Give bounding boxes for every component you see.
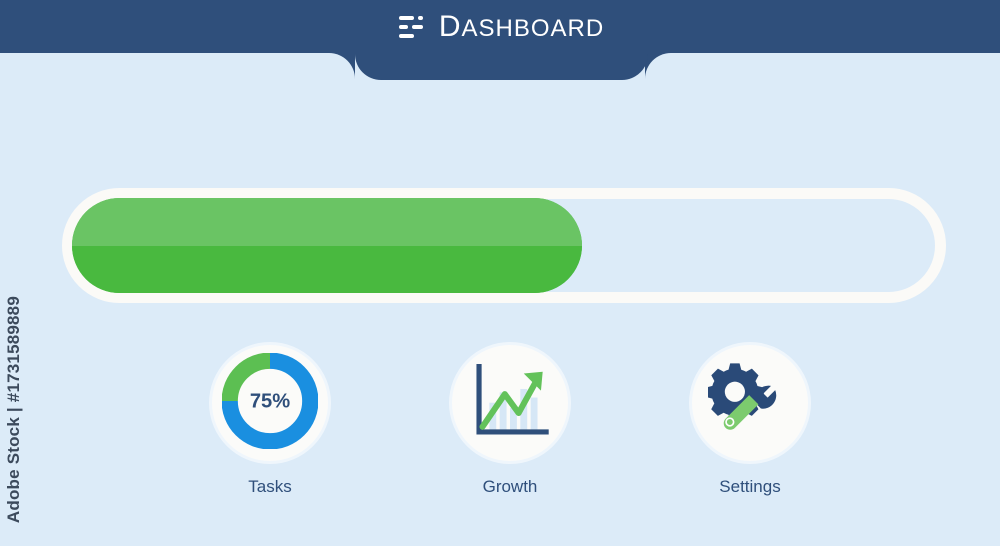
feature-icon-circle-tasks: 75% (212, 345, 328, 461)
bar-chart-list-icon (399, 16, 423, 38)
progress-fill-shadow (72, 246, 582, 294)
gear-wrench-icon (708, 359, 792, 448)
header-tab-notch-right (645, 53, 671, 80)
page-title-initial: D (439, 10, 462, 43)
line-chart-up-arrow-icon (467, 358, 553, 449)
feature-item-tasks[interactable]: 75% Tasks (180, 345, 360, 497)
header: DASHBOARD (355, 0, 648, 53)
header-tab (355, 53, 648, 80)
feature-item-growth[interactable]: Growth (420, 345, 600, 497)
feature-label-settings: Settings (719, 477, 780, 497)
feature-icon-circle-settings (692, 345, 808, 461)
progress-fill-highlight (72, 198, 582, 246)
feature-icon-circle-growth (452, 345, 568, 461)
page-title-rest: ASHBOARD (461, 15, 604, 42)
donut-value-text: 75% (250, 390, 290, 412)
progress-bar-fill (72, 198, 582, 293)
feature-label-growth: Growth (483, 477, 538, 497)
feature-list: 75% Tasks (180, 345, 840, 505)
progress-bar-track[interactable] (62, 188, 946, 303)
page-title: DASHBOARD (439, 12, 604, 42)
header-tab-notch-left (329, 53, 355, 80)
feature-label-tasks: Tasks (248, 477, 291, 497)
feature-item-settings[interactable]: Settings (660, 345, 840, 497)
donut-chart-icon: 75% (222, 353, 318, 454)
watermark-text: Adobe Stock | #1731589889 (4, 296, 24, 523)
